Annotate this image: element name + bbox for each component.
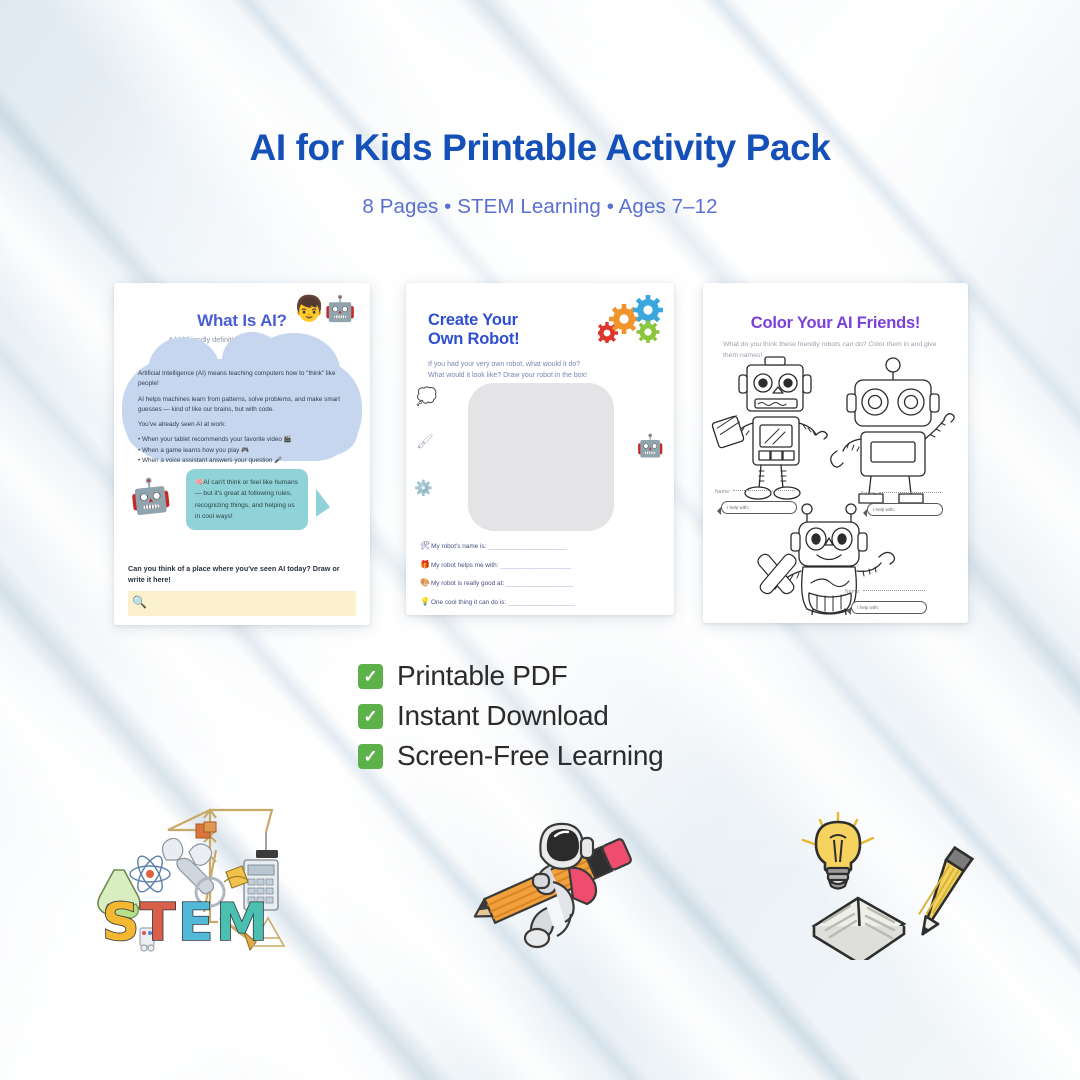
- green-check-icon: ✓: [358, 744, 383, 769]
- worksheet-2-prompts: 🛠My robot's name is: ___________________…: [420, 541, 662, 615]
- name-label: Name:: [715, 489, 731, 495]
- body-paragraph: AI helps machines learn from patterns, s…: [138, 395, 352, 416]
- help-label: I help with:: [727, 505, 749, 510]
- boxy-robot: [712, 357, 828, 499]
- prompt-row[interactable]: 🛠My robot's name is: ___________________…: [420, 541, 662, 550]
- prompt-row[interactable]: 🎁My robot helps me with: _______________…: [420, 560, 662, 569]
- help-label: I help with:: [873, 507, 895, 512]
- waving-robot-icon: 🤖: [128, 477, 172, 514]
- name-field-robot-2[interactable]: Name:: [861, 491, 941, 497]
- name-field-robot-1[interactable]: Name:: [715, 489, 795, 495]
- prompt-label: My robot is really good at:: [431, 580, 504, 587]
- thought-cloud-icon: 💭: [416, 387, 437, 407]
- write-in-line[interactable]: __________________: [500, 562, 571, 569]
- worksheet-1-body-text: Artificial Intelligence (AI) means teach…: [138, 369, 352, 466]
- feature-label: Screen-Free Learning: [397, 740, 663, 772]
- name-field-robot-3[interactable]: Name:: [845, 589, 925, 595]
- page-subtitle: 8 Pages • STEM Learning • Ages 7–12: [0, 195, 1080, 219]
- worksheet-2-subtitle-line1: If you had your very own robot, what wou…: [428, 359, 660, 370]
- gift-icon: 🎁: [420, 560, 430, 569]
- prompt-row[interactable]: 💡One cool thing it can do is: __________…: [420, 597, 662, 606]
- round-eyed-robot: [831, 358, 954, 503]
- feature-label: Printable PDF: [397, 660, 567, 692]
- book-bulb-pencil-svg: [800, 810, 985, 960]
- name-label: Name:: [861, 491, 877, 497]
- green-check-icon: ✓: [358, 704, 383, 729]
- speech-bubble: 🧠AI can't think or feel like humans — bu…: [186, 469, 308, 530]
- astronaut-pencil-svg: [455, 820, 655, 955]
- blue-robot-face-icon: 🤖: [637, 433, 664, 459]
- worksheet-2-subtitle: If you had your very own robot, what wou…: [428, 359, 660, 382]
- worksheet-card-create-your-own-robot[interactable]: Create Your Own Robot! If you had your v…: [406, 283, 674, 615]
- coloring-robots-area: Name: I help with: Name: I help with: Na…: [703, 339, 968, 617]
- body-paragraph: You've already seen AI at work:: [138, 420, 352, 430]
- page-title: AI for Kids Printable Activity Pack: [0, 128, 1080, 169]
- body-bullet: • When a game learns how you play 🎮: [138, 446, 352, 456]
- feature-item-screen-free-learning: ✓ Screen-Free Learning: [358, 740, 663, 772]
- prompt-label: My robot's name is:: [431, 543, 486, 550]
- colored-gears-icon: [598, 295, 664, 343]
- write-in-line[interactable]: _________________: [506, 580, 573, 587]
- body-paragraph: Artificial Intelligence (AI) means teach…: [138, 369, 352, 390]
- name-write-line[interactable]: [879, 492, 941, 493]
- help-box-robot-3[interactable]: I help with:: [851, 601, 927, 614]
- stem-letters-illustration: S T E M: [92, 800, 307, 960]
- worksheet-card-what-is-ai[interactable]: 👦🤖 What Is AI? A kid-friendly definition…: [114, 283, 370, 625]
- tools-icon: 🛠: [420, 541, 430, 550]
- body-bullet: • When a voice assistant answers your qu…: [138, 456, 352, 466]
- stem-scene-svg: S T E M: [92, 800, 307, 960]
- prompt-label: One cool thing it can do is:: [431, 599, 506, 606]
- wrench-robot: [758, 504, 894, 615]
- worksheet-1-answer-line[interactable]: 🔍: [128, 591, 356, 616]
- write-in-line[interactable]: _________________: [508, 599, 575, 606]
- robot-line-art: [703, 339, 968, 615]
- boy-and-robot-emoji: 👦🤖: [294, 297, 356, 322]
- illustration-row: S T E M: [0, 790, 1080, 980]
- help-box-robot-1[interactable]: I help with:: [721, 501, 797, 514]
- prompt-row[interactable]: 🎨My robot is really good at: ___________…: [420, 578, 662, 587]
- help-box-robot-2[interactable]: I help with:: [867, 503, 943, 516]
- feature-item-instant-download: ✓ Instant Download: [358, 700, 663, 732]
- write-in-line[interactable]: ____________________: [488, 543, 567, 550]
- svg-text:M: M: [216, 893, 268, 953]
- feature-item-printable-pdf: ✓ Printable PDF: [358, 660, 663, 692]
- worksheet-2-content: Create Your Own Robot! If you had your v…: [406, 283, 674, 615]
- name-write-line[interactable]: [863, 590, 925, 591]
- gears-outline-icon: ⚙️: [414, 479, 433, 497]
- name-label: Name:: [845, 589, 861, 595]
- worksheet-1-question: Can you think of a place where you've se…: [128, 564, 356, 586]
- worksheet-2-subtitle-line2: What would it look like? Draw your robot…: [428, 370, 660, 381]
- worksheet-1-content: 👦🤖 What Is AI? A kid-friendly definition…: [114, 283, 370, 625]
- robot-drawing-box[interactable]: [468, 383, 614, 531]
- feature-list: ✓ Printable PDF ✓ Instant Download ✓ Scr…: [358, 660, 663, 780]
- svg-text:S: S: [102, 893, 139, 953]
- feature-label: Instant Download: [397, 700, 609, 732]
- astronaut-riding-pencil-illustration: [455, 820, 655, 955]
- help-label: I help with:: [857, 605, 879, 610]
- magnifying-glass-icon: 🔍: [132, 595, 147, 609]
- paint-brush-icon: 🖌: [416, 433, 434, 450]
- crossed-wrenches: [758, 554, 796, 593]
- green-check-icon: ✓: [358, 664, 383, 689]
- lightbulb-icon: 💡: [420, 597, 430, 606]
- name-write-line[interactable]: [733, 490, 795, 491]
- worksheet-3-title: Color Your AI Friends!: [717, 314, 954, 333]
- palette-icon: 🎨: [420, 578, 430, 587]
- worksheet-preview-row: 👦🤖 What Is AI? A kid-friendly definition…: [0, 283, 1080, 628]
- worksheet-card-color-your-ai-friends[interactable]: Color Your AI Friends! What do you think…: [703, 283, 968, 623]
- header: AI for Kids Printable Activity Pack 8 Pa…: [0, 128, 1080, 219]
- lightbulb-book-pencil-illustration: [800, 810, 985, 960]
- worksheet-3-content: Color Your AI Friends! What do you think…: [703, 283, 968, 623]
- svg-text:E: E: [178, 893, 214, 953]
- body-bullet: • When your tablet recommends your favor…: [138, 435, 352, 445]
- prompt-label: My robot helps me with:: [431, 562, 498, 569]
- svg-text:T: T: [140, 893, 176, 953]
